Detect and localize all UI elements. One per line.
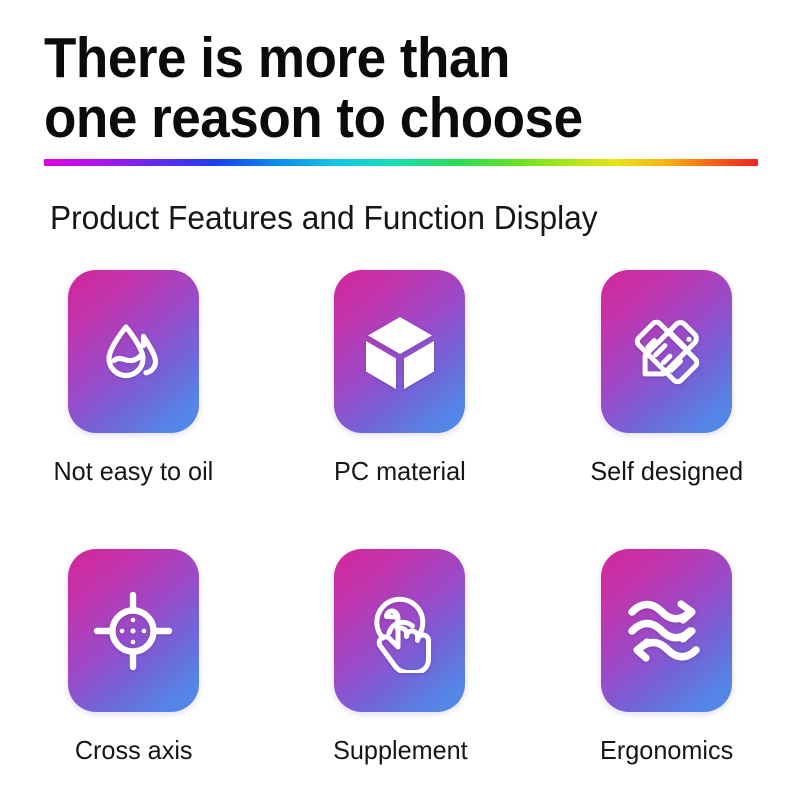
feature-tile xyxy=(334,270,465,433)
feature-item-cross-axis[interactable]: Cross axis xyxy=(0,549,267,766)
feature-label: Cross axis xyxy=(74,735,192,766)
rainbow-divider xyxy=(44,159,758,166)
pencil-ruler-icon xyxy=(627,312,707,392)
feature-tile xyxy=(68,270,199,433)
feature-item-pc-material[interactable]: PC material xyxy=(267,270,534,487)
feature-tile xyxy=(334,549,465,712)
page-subtitle: Product Features and Function Display xyxy=(50,198,598,238)
feature-label: Self designed xyxy=(590,456,743,487)
crosshair-icon xyxy=(93,591,173,671)
feature-label: Supplement xyxy=(333,735,468,766)
feature-grid: Not easy to oil PC material xyxy=(0,270,800,766)
page-title-line-2: one reason to choose xyxy=(44,88,714,148)
cube-box-icon xyxy=(363,313,437,391)
feature-item-not-easy-to-oil[interactable]: Not easy to oil xyxy=(0,270,267,487)
page-title-line-1: There is more than xyxy=(44,28,714,88)
feature-tile xyxy=(601,270,732,433)
feature-item-supplement[interactable]: Supplement xyxy=(267,549,534,766)
promo-feature-page: There is more than one reason to choose … xyxy=(0,0,800,800)
feature-item-self-designed[interactable]: Self designed xyxy=(533,270,800,487)
feature-label: Ergonomics xyxy=(600,735,733,766)
feature-label: Not easy to oil xyxy=(53,456,213,487)
feature-tile xyxy=(601,549,732,712)
feature-item-ergonomics[interactable]: Ergonomics xyxy=(533,549,800,766)
feature-tile xyxy=(68,549,199,712)
feature-label: PC material xyxy=(334,456,466,487)
airflow-waves-icon xyxy=(626,598,708,664)
page-title: There is more than one reason to choose xyxy=(44,28,764,148)
water-drops-icon xyxy=(95,314,171,390)
touch-hand-icon xyxy=(362,589,438,673)
